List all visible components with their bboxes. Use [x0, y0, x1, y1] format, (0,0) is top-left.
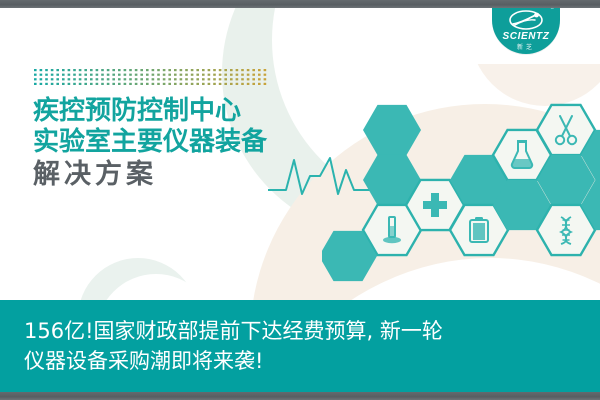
- hexagon-icon-cluster: [322, 92, 600, 297]
- headline-line-3: 解决方案: [33, 158, 267, 192]
- bottom-chrome-bar: [0, 392, 600, 400]
- halftone-dot-gradient: [33, 68, 273, 93]
- top-chrome-bar: [0, 0, 600, 8]
- poster-canvas: ® SCIENTZ 新芝 疾控预防控制中心 实验室主要仪器装备 解决方案: [0, 0, 600, 400]
- logo-sub-chinese: 新芝: [492, 42, 560, 51]
- banner-text-block: 156亿!国家财政部提前下达经费预算, 新一轮 仪器设备采购潮即将来袭!: [24, 316, 580, 376]
- headline-line-2: 实验室主要仪器装备: [33, 127, 267, 158]
- headline-block: 疾控预防控制中心 实验室主要仪器装备 解决方案: [33, 96, 267, 192]
- banner-line-1: 156亿!国家财政部提前下达经费预算, 新一轮: [24, 316, 580, 346]
- logo-wordmark: SCIENTZ: [492, 31, 560, 42]
- headline-line-1: 疾控预防控制中心: [33, 96, 267, 127]
- hexagon-tile: [363, 105, 421, 155]
- scientz-logo[interactable]: ® SCIENTZ 新芝: [492, 2, 560, 54]
- announcement-banner: 156亿!国家财政部提前下达经费预算, 新一轮 仪器设备采购潮即将来袭!: [0, 300, 600, 392]
- banner-line-2: 仪器设备采购潮即将来袭!: [24, 346, 580, 376]
